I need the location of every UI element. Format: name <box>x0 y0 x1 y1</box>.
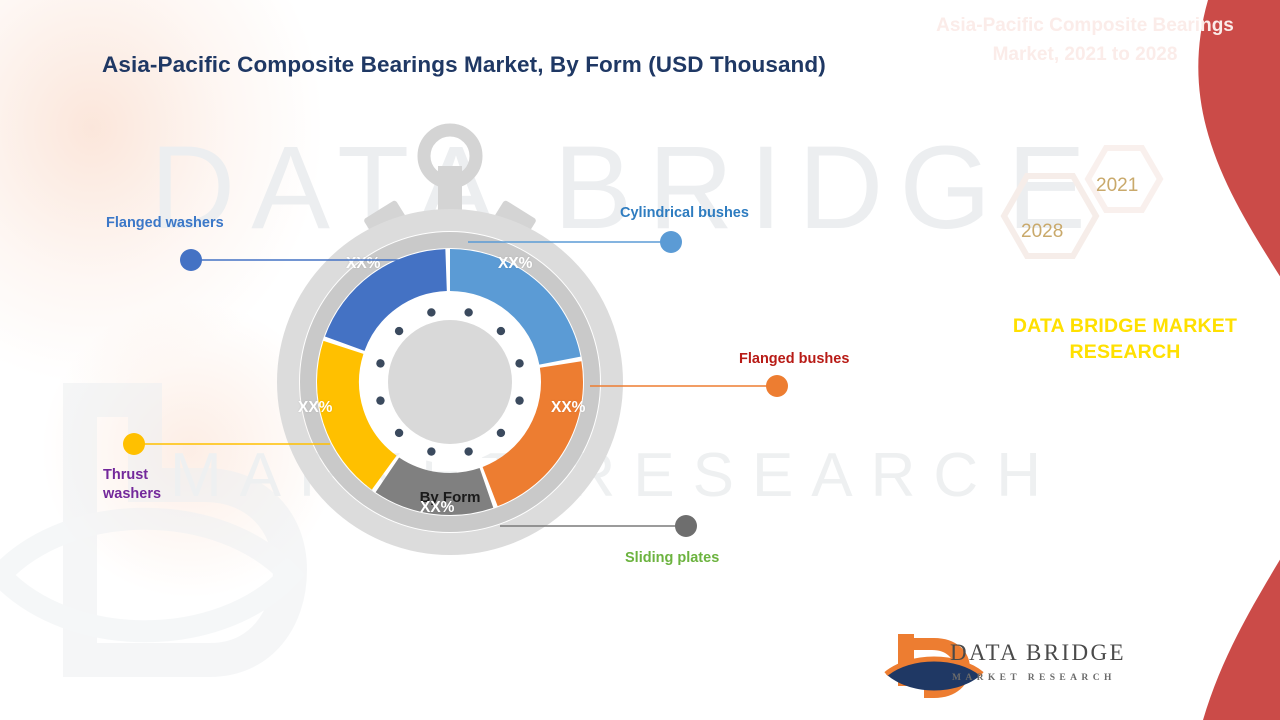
brand-name-text: DATA BRIDGE MARKET RESEARCH <box>975 313 1275 366</box>
callout-dot-flanged-washers[interactable] <box>180 249 202 271</box>
hexagon-end-year-label: 2028 <box>1021 221 1063 243</box>
hexagon-end-year <box>1004 176 1096 256</box>
callout-dot-thrust-washers[interactable] <box>123 433 145 455</box>
hexagon-start-year-label: 2021 <box>1096 175 1138 197</box>
callout-dot-flanged-bushes[interactable] <box>766 375 788 397</box>
callout-label-thrust-washers: Thrust washers <box>103 466 161 503</box>
callout-label-flanged-washers: Flanged washers <box>106 215 224 231</box>
callout-label-sliding-plates: Sliding plates <box>625 550 719 566</box>
callout-label-cylindrical-bushes: Cylindrical bushes <box>620 205 749 221</box>
callout-label-flanged-bushes: Flanged bushes <box>739 351 849 367</box>
callout-dot-cylindrical-bushes[interactable] <box>660 231 682 253</box>
callout-label-thrust-line1: Thrust <box>103 467 148 483</box>
logo-text-main: DATA BRIDGE <box>950 640 1126 666</box>
callout-dot-sliding-plates[interactable] <box>675 515 697 537</box>
callout-label-thrust-line2: washers <box>103 486 161 502</box>
logo-text-sub: MARKET RESEARCH <box>952 673 1116 683</box>
year-hexagons-group <box>985 140 1195 270</box>
infographic-canvas: DATA BRIDGE MARKET RESEARCH Asia-Pacific… <box>0 0 1280 720</box>
right-panel-title: Asia-Pacific Composite Bearings Market, … <box>935 12 1235 70</box>
